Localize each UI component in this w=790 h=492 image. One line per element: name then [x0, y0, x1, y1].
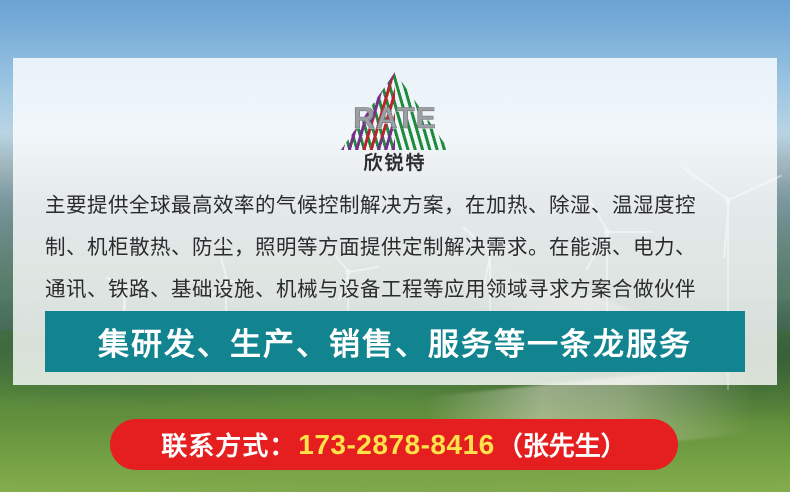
services-banner: 集研发、生产、销售、服务等一条龙服务	[45, 311, 745, 372]
company-logo: RATE 欣锐特	[13, 72, 777, 175]
contact-label: 联系方式：	[161, 426, 296, 463]
logo-wordmark: RATE	[341, 102, 449, 136]
contact-phone-number[interactable]: 173-2878-8416	[298, 429, 494, 461]
rate-triangle-icon: RATE	[341, 72, 449, 150]
description-line-3: 通讯、铁路、基础设施、机械与设备工程等应用领域寻求方案合做伙伴	[45, 268, 759, 310]
contact-person-name: （张先生）	[497, 426, 627, 463]
description-line-1: 主要提供全球最高效率的气候控制解决方案，在加热、除湿、温湿度控	[45, 184, 759, 226]
services-banner-text: 集研发、生产、销售、服务等一条龙服务	[98, 319, 692, 364]
description-line-2: 制、机柜散热、防尘，照明等方面提供定制解决需求。在能源、电力、	[45, 226, 759, 268]
logo-chinese-name: 欣锐特	[363, 148, 426, 175]
company-description: 主要提供全球最高效率的气候控制解决方案，在加热、除湿、温湿度控 制、机柜散热、防…	[45, 184, 759, 310]
contact-banner[interactable]: 联系方式： 173-2878-8416 （张先生）	[110, 419, 678, 470]
